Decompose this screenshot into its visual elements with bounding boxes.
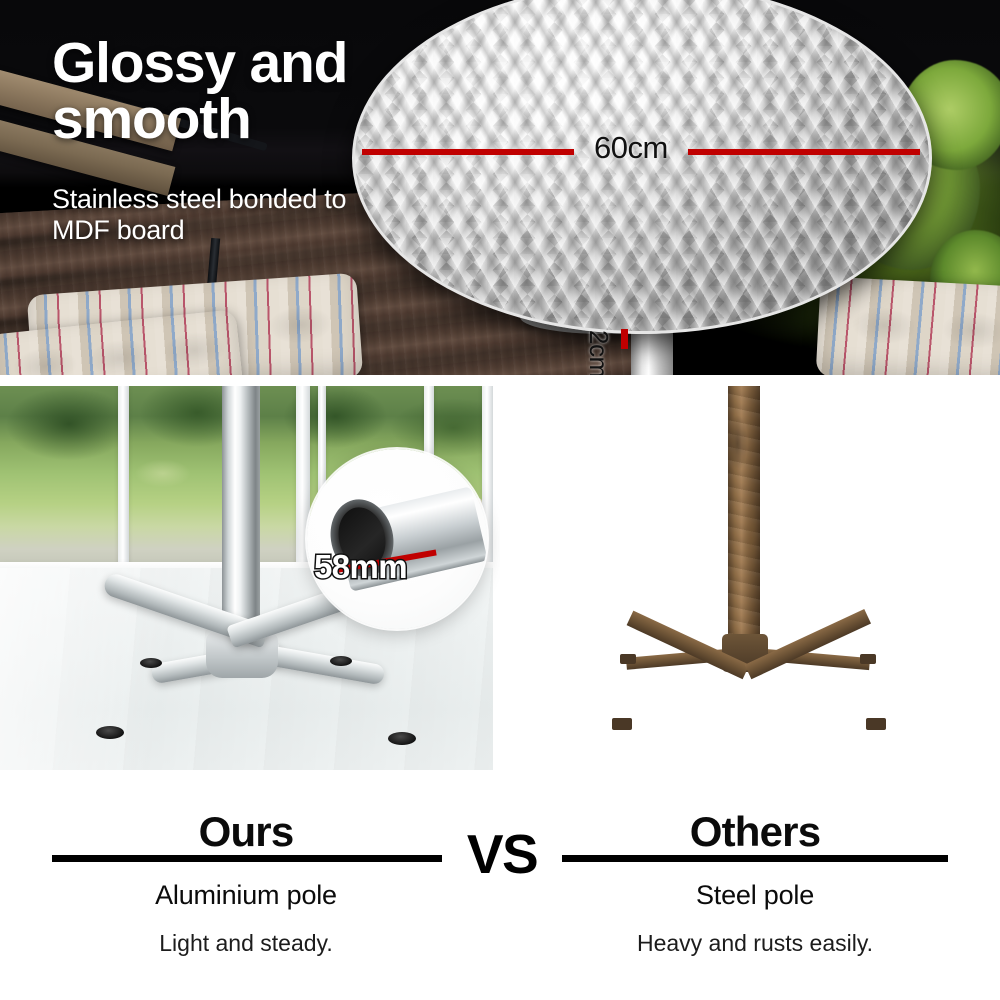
rust-foot-back-left [620, 654, 636, 664]
vs-label: VS [452, 822, 552, 886]
rust-foot-back-right [860, 654, 876, 664]
hero-panel: 60cm 2cm Glossy and smooth Stainless ste… [0, 0, 1000, 375]
diameter-line-left [362, 149, 574, 155]
rust-foot-front-left [612, 718, 632, 730]
base-foot-front-left [96, 726, 124, 739]
hero-headline: Glossy and smooth [52, 36, 382, 148]
base-foot-back-right [330, 656, 352, 666]
pole-diameter-callout [307, 449, 487, 629]
hero-subheadline: Stainless steel bonded to MDF board [52, 184, 392, 245]
photo-steel-base [500, 386, 1000, 770]
column-subtitle-others: Steel pole [562, 880, 948, 911]
window-mullion-1 [118, 386, 129, 576]
comparison-section: Ours Others VS Aluminium pole Steel pole… [0, 770, 1000, 1000]
product-infographic: 60cm 2cm Glossy and smooth Stainless ste… [0, 0, 1000, 1000]
textured-steel-tabletop [352, 0, 932, 334]
divider-rule-right [562, 855, 948, 862]
thickness-label: 2cm [583, 330, 614, 375]
thickness-marker [621, 329, 628, 349]
divider-rule-left [52, 855, 442, 862]
column-subtitle-ours: Aluminium pole [50, 880, 442, 911]
base-foot-front-right [388, 732, 416, 745]
column-title-ours: Ours [50, 808, 442, 856]
pole-diameter-label: 58mm [314, 548, 407, 586]
diameter-label: 60cm [594, 130, 668, 166]
steel-pole [728, 386, 760, 646]
rust-foot-front-right [866, 718, 886, 730]
base-foot-back-left [140, 658, 162, 668]
diameter-line-right [688, 149, 920, 155]
column-note-others: Heavy and rusts easily. [562, 930, 948, 957]
column-title-others: Others [562, 808, 948, 856]
column-note-ours: Light and steady. [50, 930, 442, 957]
